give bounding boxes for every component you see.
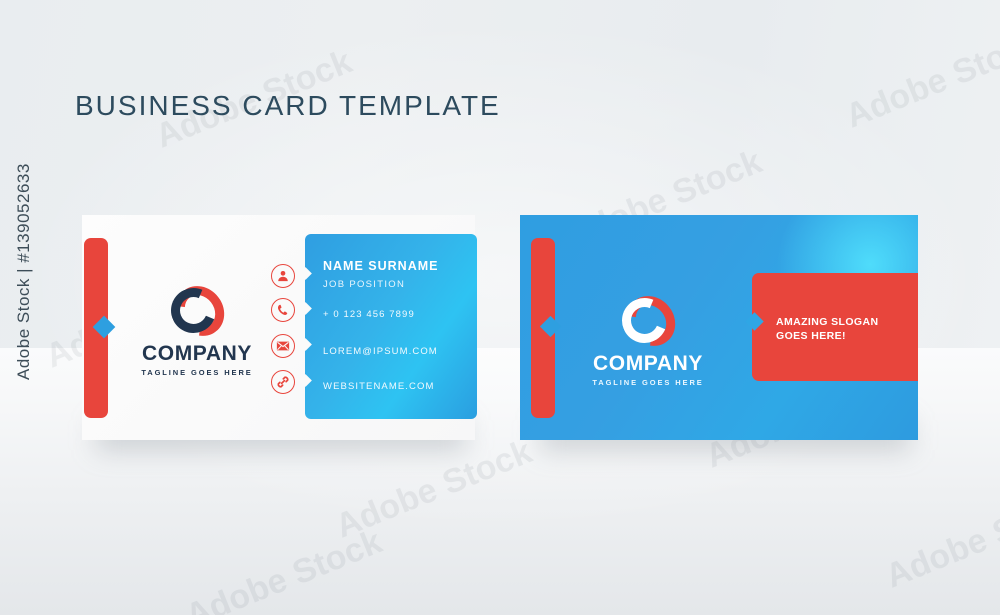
person-icon xyxy=(271,264,295,288)
slogan-line-1: AMAZING SLOGAN xyxy=(776,315,878,329)
page-title: BUSINESS CARD TEMPLATE xyxy=(75,90,501,122)
front-card-contact-list: NAME SURNAME JOB POSITION + 0 123 456 78… xyxy=(305,234,485,419)
company-tagline: TAGLINE GOES HERE xyxy=(137,368,257,377)
letter-c-logo-icon xyxy=(622,295,674,347)
contact-email: LOREM@IPSUM.COM xyxy=(323,346,438,357)
contact-name-block: NAME SURNAME JOB POSITION xyxy=(323,260,438,290)
slogan-line-2: GOES HERE! xyxy=(776,329,878,343)
back-card-logo: COMPANY TAGLINE GOES HERE xyxy=(588,295,708,387)
link-icon xyxy=(271,370,295,394)
back-card-slogan: AMAZING SLOGAN GOES HERE! xyxy=(776,315,878,343)
company-tagline: TAGLINE GOES HERE xyxy=(588,378,708,387)
contact-name: NAME SURNAME xyxy=(323,260,438,274)
phone-icon xyxy=(271,298,295,322)
letter-c-logo-icon xyxy=(171,285,223,337)
front-card-logo: COMPANY TAGLINE GOES HERE xyxy=(137,285,257,377)
contact-job-position: JOB POSITION xyxy=(323,279,438,290)
contact-website: WEBSITENAME.COM xyxy=(323,381,435,392)
envelope-icon xyxy=(271,334,295,358)
company-name: COMPANY xyxy=(137,343,257,364)
company-name: COMPANY xyxy=(588,353,708,374)
contact-phone: + 0 123 456 7899 xyxy=(323,309,415,320)
stock-watermark-id: Adobe Stock | #139052633 xyxy=(14,163,34,380)
